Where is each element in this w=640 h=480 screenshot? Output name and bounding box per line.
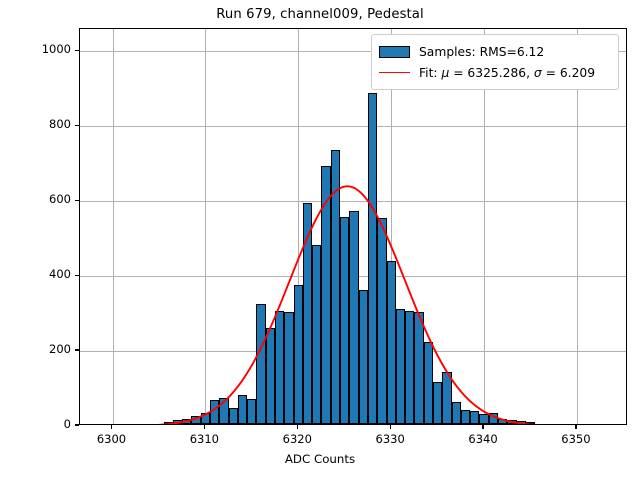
x-tick-label: 6300 [77,432,147,446]
y-tick-mark [75,50,79,51]
legend-swatch-samples-icon [379,46,410,58]
legend-item-fit: Fit: μ = 6325.286, σ = 6.209 [379,62,611,83]
x-tick-label: 6350 [541,432,611,446]
chart-title: Run 679, channel009, Pedestal [0,7,640,22]
x-tick-label: 6320 [262,432,332,446]
y-tick-mark [75,275,79,276]
x-axis-label: ADC Counts [0,452,640,466]
x-tick-label: 6340 [448,432,518,446]
x-tick-mark [575,425,576,429]
y-tick-label: 0 [64,417,71,431]
y-tick-mark [75,424,79,425]
legend-label-fit: Fit: μ = 6325.286, σ = 6.209 [419,66,595,80]
y-tick-label: 400 [49,267,71,281]
x-tick-mark [390,425,391,429]
x-tick-mark [482,425,483,429]
legend-label-samples: Samples: RMS=6.12 [419,45,544,59]
legend-swatch-fit-icon [379,72,410,73]
legend-item-samples: Samples: RMS=6.12 [379,41,611,62]
x-tick-mark [111,425,112,429]
y-tick-mark [75,349,79,350]
legend: Samples: RMS=6.12 Fit: μ = 6325.286, σ =… [371,34,619,90]
chart-figure: Run 679, channel009, Pedestal 0200400600… [0,0,640,480]
y-tick-mark [75,200,79,201]
y-tick-mark [75,125,79,126]
x-tick-label: 6330 [355,432,425,446]
y-tick-label: 1000 [42,42,71,56]
x-tick-mark [204,425,205,429]
y-tick-label: 200 [49,342,71,356]
y-tick-label: 800 [49,117,71,131]
y-tick-label: 600 [49,192,71,206]
x-tick-label: 6310 [169,432,239,446]
x-tick-mark [297,425,298,429]
